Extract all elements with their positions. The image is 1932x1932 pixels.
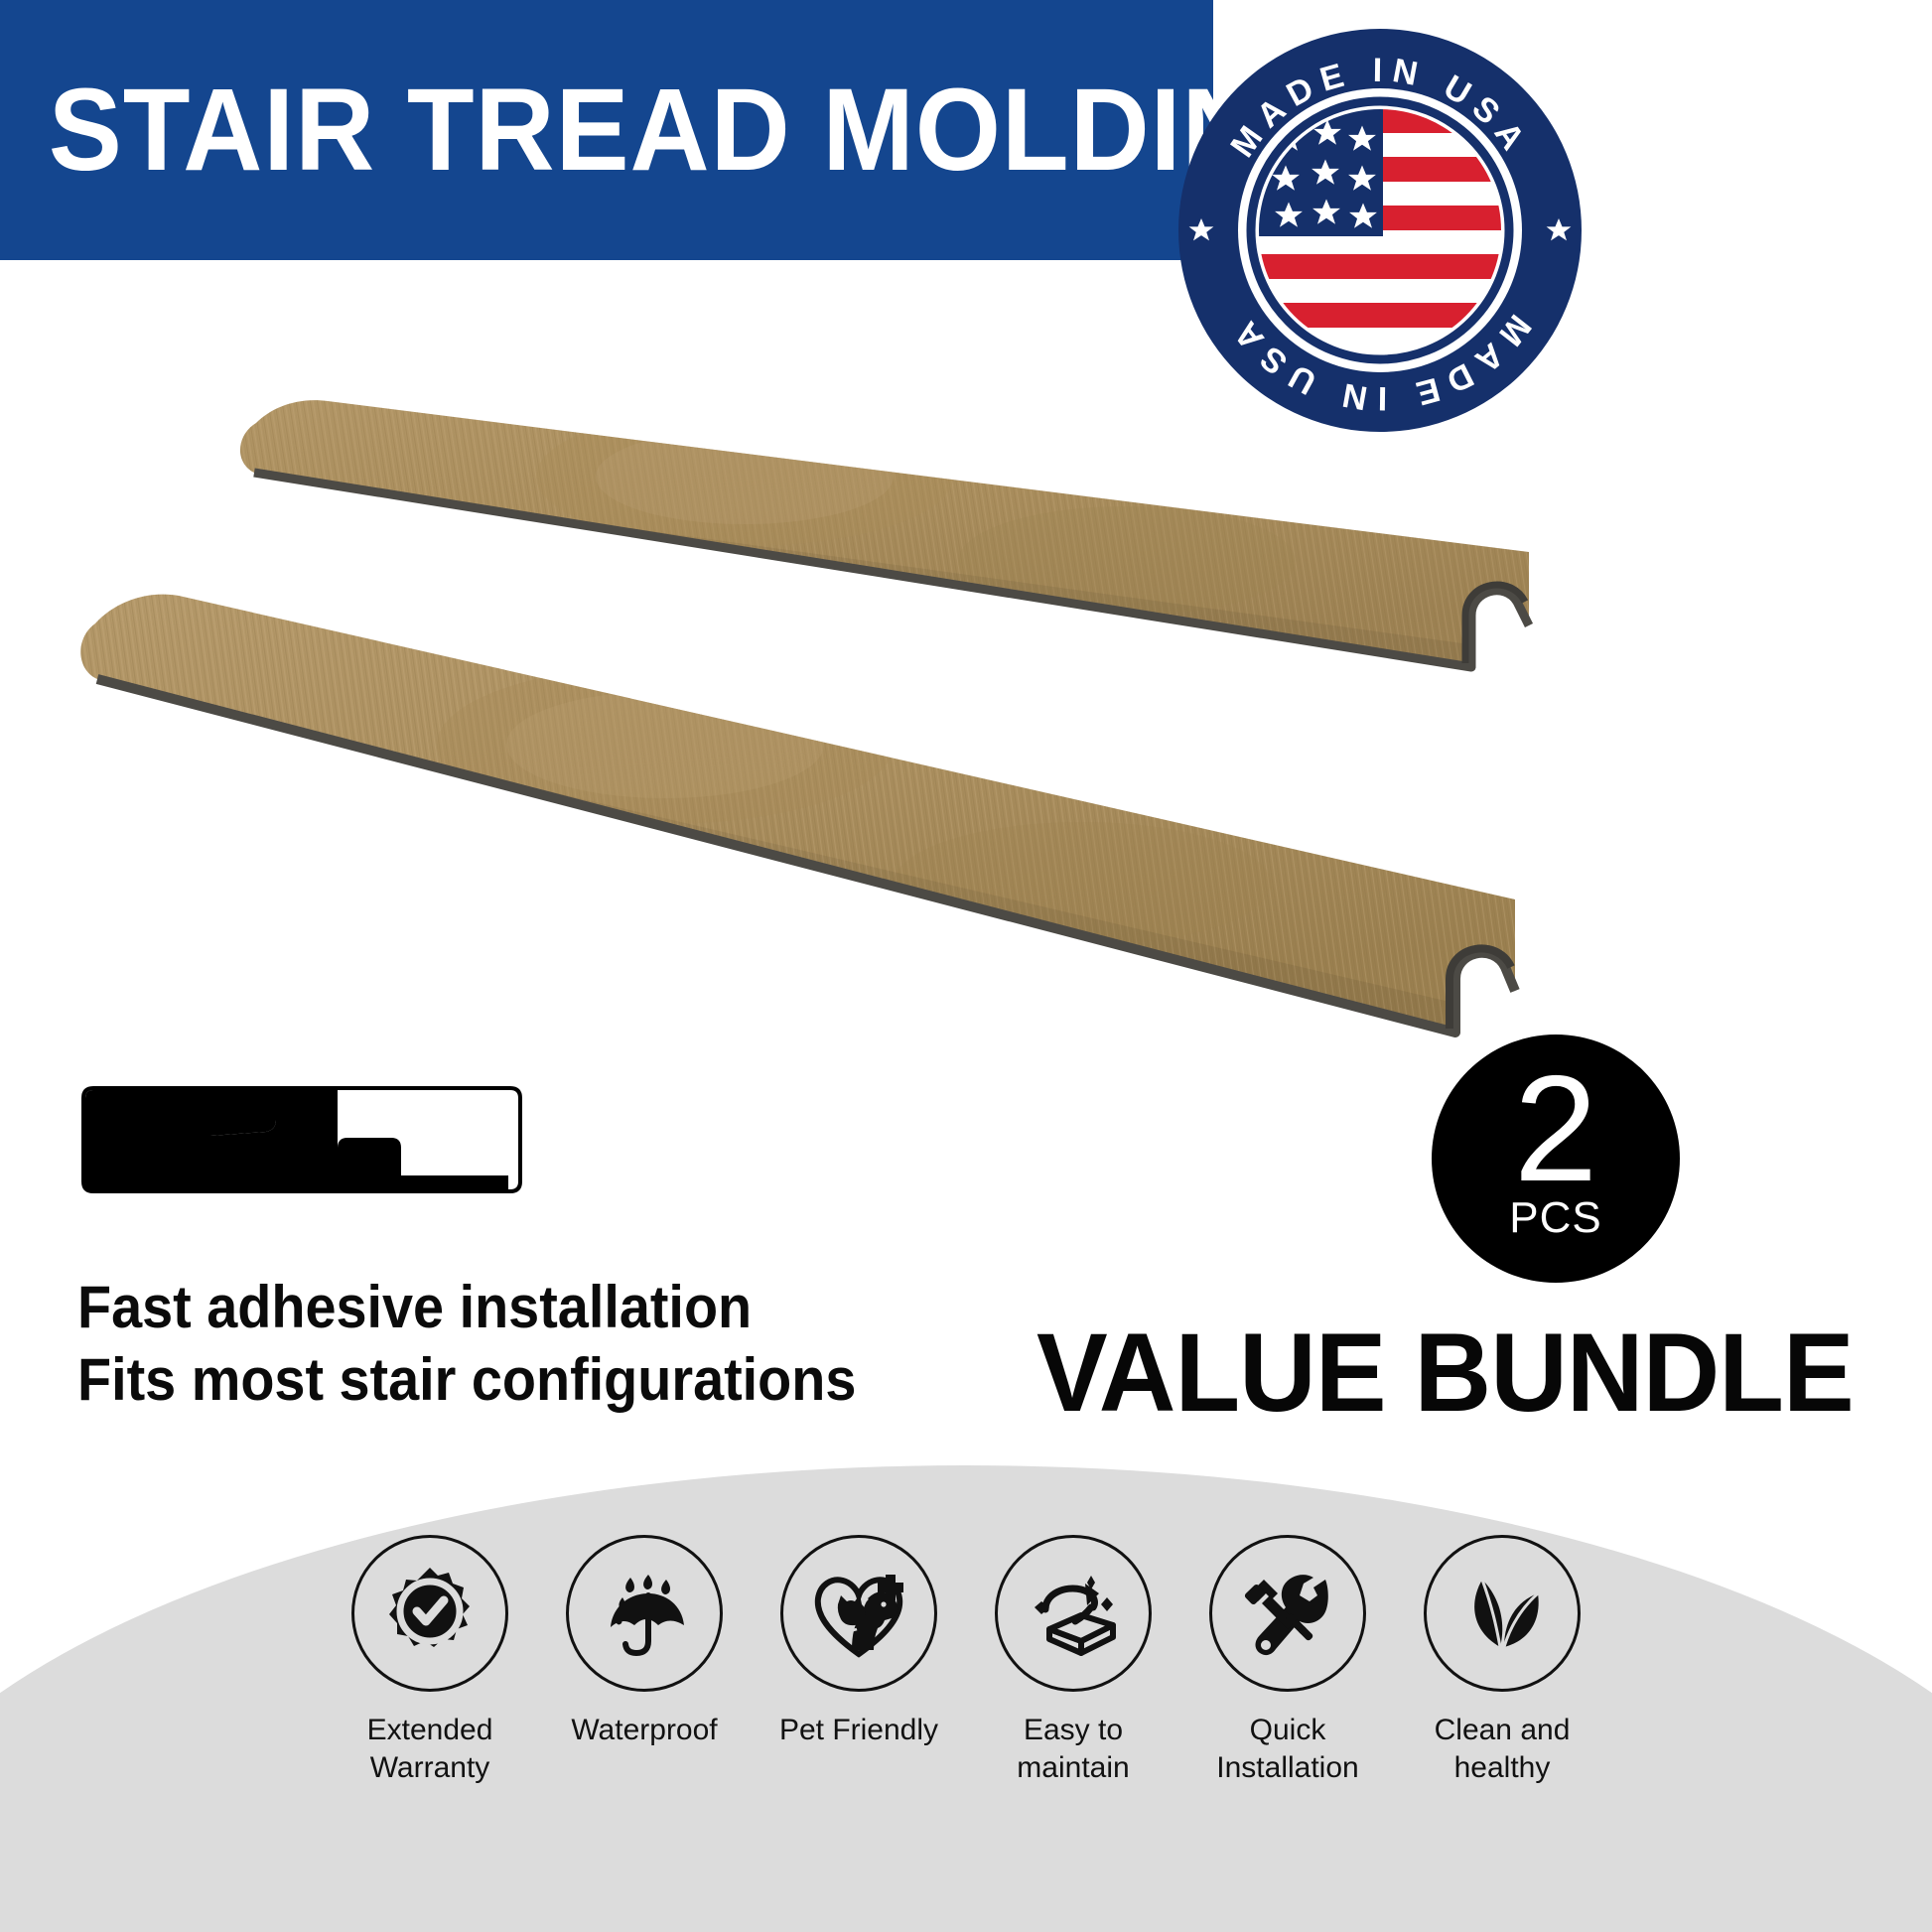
umbrella-rain-icon (566, 1535, 723, 1692)
feature-icon-strip: Extended Warranty Waterproof (0, 1535, 1932, 1932)
label-line-1: Clean and (1435, 1714, 1571, 1746)
two-leaves-icon (1424, 1535, 1581, 1692)
feature-line-1: Fast adhesive installation (77, 1271, 853, 1343)
label-line-2: Installation (1216, 1751, 1358, 1784)
label-line-2: healthy (1454, 1751, 1551, 1784)
feature-label-extended-warranty: Extended Warranty (367, 1712, 493, 1786)
product-feature-text: Fast adhesive installation Fits most sta… (77, 1271, 911, 1416)
feature-item-easy-to-maintain: Easy to maintain (966, 1535, 1180, 1786)
pcs-unit-label: PCS (1509, 1196, 1601, 1240)
hammer-wrench-icon (1209, 1535, 1366, 1692)
label-line-1: Easy to (1024, 1714, 1123, 1746)
feature-item-clean-and-healthy: Clean and healthy (1395, 1535, 1609, 1786)
feature-label-easy-to-maintain: Easy to maintain (1017, 1712, 1129, 1786)
header-banner: STAIR TREAD MOLDING (0, 0, 1213, 260)
label-line-2: Warranty (370, 1751, 490, 1784)
feature-item-waterproof: Waterproof (537, 1535, 752, 1749)
value-bundle-label: VALUE BUNDLE (1036, 1309, 1854, 1437)
feature-label-waterproof: Waterproof (571, 1712, 717, 1749)
made-in-usa-badge: MADE IN USA MADE IN USA (1172, 22, 1588, 439)
feature-line-2: Fits most stair configurations (77, 1343, 853, 1416)
stair-tread-lower (69, 566, 1539, 1062)
feature-label-quick-installation: Quick Installation (1216, 1712, 1358, 1786)
page-title: STAIR TREAD MOLDING (0, 71, 1349, 189)
feature-item-quick-installation: Quick Installation (1180, 1535, 1395, 1786)
feature-item-extended-warranty: Extended Warranty (323, 1535, 537, 1786)
pcs-count-badge: 2 PCS (1432, 1035, 1680, 1283)
label-line-2: maintain (1017, 1751, 1129, 1784)
plank-sparkle-mop-icon (995, 1535, 1152, 1692)
label-line-1: Quick (1250, 1714, 1326, 1746)
warranty-seal-check-icon (351, 1535, 508, 1692)
label-line-1: Extended (367, 1714, 493, 1746)
feature-item-pet-friendly: Pet Friendly (752, 1535, 966, 1749)
pcs-count-value: 2 (1514, 1067, 1598, 1191)
pet-heart-cross-icon (780, 1535, 937, 1692)
feature-label-clean-and-healthy: Clean and healthy (1435, 1712, 1571, 1786)
molding-cross-section-icon (77, 1084, 526, 1195)
feature-label-pet-friendly: Pet Friendly (779, 1712, 938, 1749)
